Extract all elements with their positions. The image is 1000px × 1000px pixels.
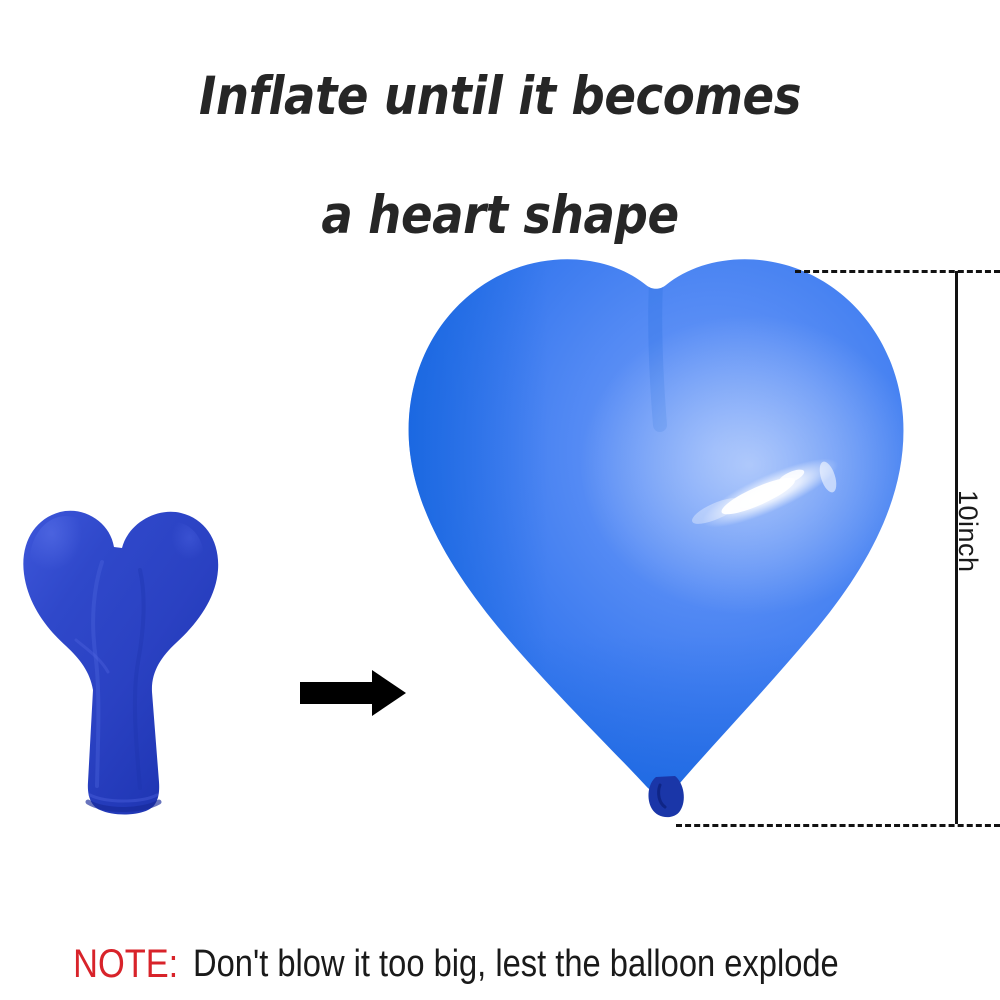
infographic-page: Inflate until it becomes a heart shape: [0, 0, 1000, 1000]
right-arrow-icon: [298, 670, 408, 720]
headline-line-1: Inflate until it becomes: [60, 67, 940, 126]
note-text: Don't blow it too big, lest the balloon …: [193, 943, 839, 986]
illustration-stage: [0, 150, 1000, 910]
note-label: NOTE:: [74, 942, 179, 987]
note-bar: NOTE: Don't blow it too big, lest the ba…: [0, 934, 1000, 994]
inflated-heart-balloon: [398, 255, 913, 845]
deflated-balloon: [18, 500, 223, 825]
balloon-knot: [649, 776, 684, 817]
